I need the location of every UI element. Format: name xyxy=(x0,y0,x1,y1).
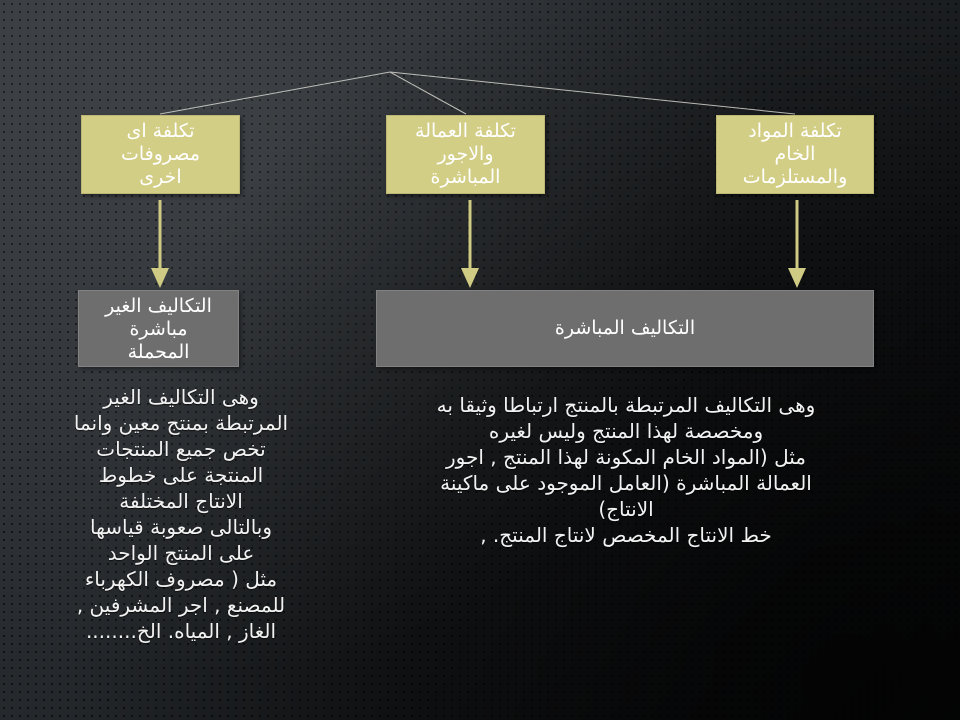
paragraph-indirect-costs: وهى التكاليف الغير المرتبطة بمنتج معين و… xyxy=(36,384,326,644)
arrow-other-to-indirect xyxy=(151,200,169,288)
connector-lines xyxy=(160,72,795,114)
paragraph-direct-costs: وهى التكاليف المرتبطة بالمنتج ارتباطا وث… xyxy=(376,392,876,548)
node-direct-costs-label: التكاليف المباشرة xyxy=(377,317,873,340)
node-direct-labor-label: تكلفة العمالة والاجور المباشرة xyxy=(387,120,544,190)
node-raw-materials[interactable]: تكلفة المواد الخام والمستلزمات xyxy=(716,115,874,194)
node-other-expenses[interactable]: تكلفة اى مصروفات اخرى xyxy=(81,115,240,194)
connector-apex-right xyxy=(390,72,795,114)
node-raw-materials-label: تكلفة المواد الخام والمستلزمات xyxy=(717,120,873,190)
node-direct-costs[interactable]: التكاليف المباشرة xyxy=(376,290,874,367)
arrow-materials-to-direct xyxy=(788,200,806,288)
node-indirect-costs[interactable]: التكاليف الغير مباشرة المحملة xyxy=(78,290,239,367)
connector-left-apex xyxy=(160,72,466,114)
node-indirect-costs-label: التكاليف الغير مباشرة المحملة xyxy=(79,295,238,365)
slide-canvas: تكلفة اى مصروفات اخرى تكلفة العمالة والا… xyxy=(0,0,960,720)
node-other-expenses-label: تكلفة اى مصروفات اخرى xyxy=(82,120,239,190)
arrow-labor-to-direct xyxy=(461,200,479,288)
node-direct-labor[interactable]: تكلفة العمالة والاجور المباشرة xyxy=(386,115,545,194)
